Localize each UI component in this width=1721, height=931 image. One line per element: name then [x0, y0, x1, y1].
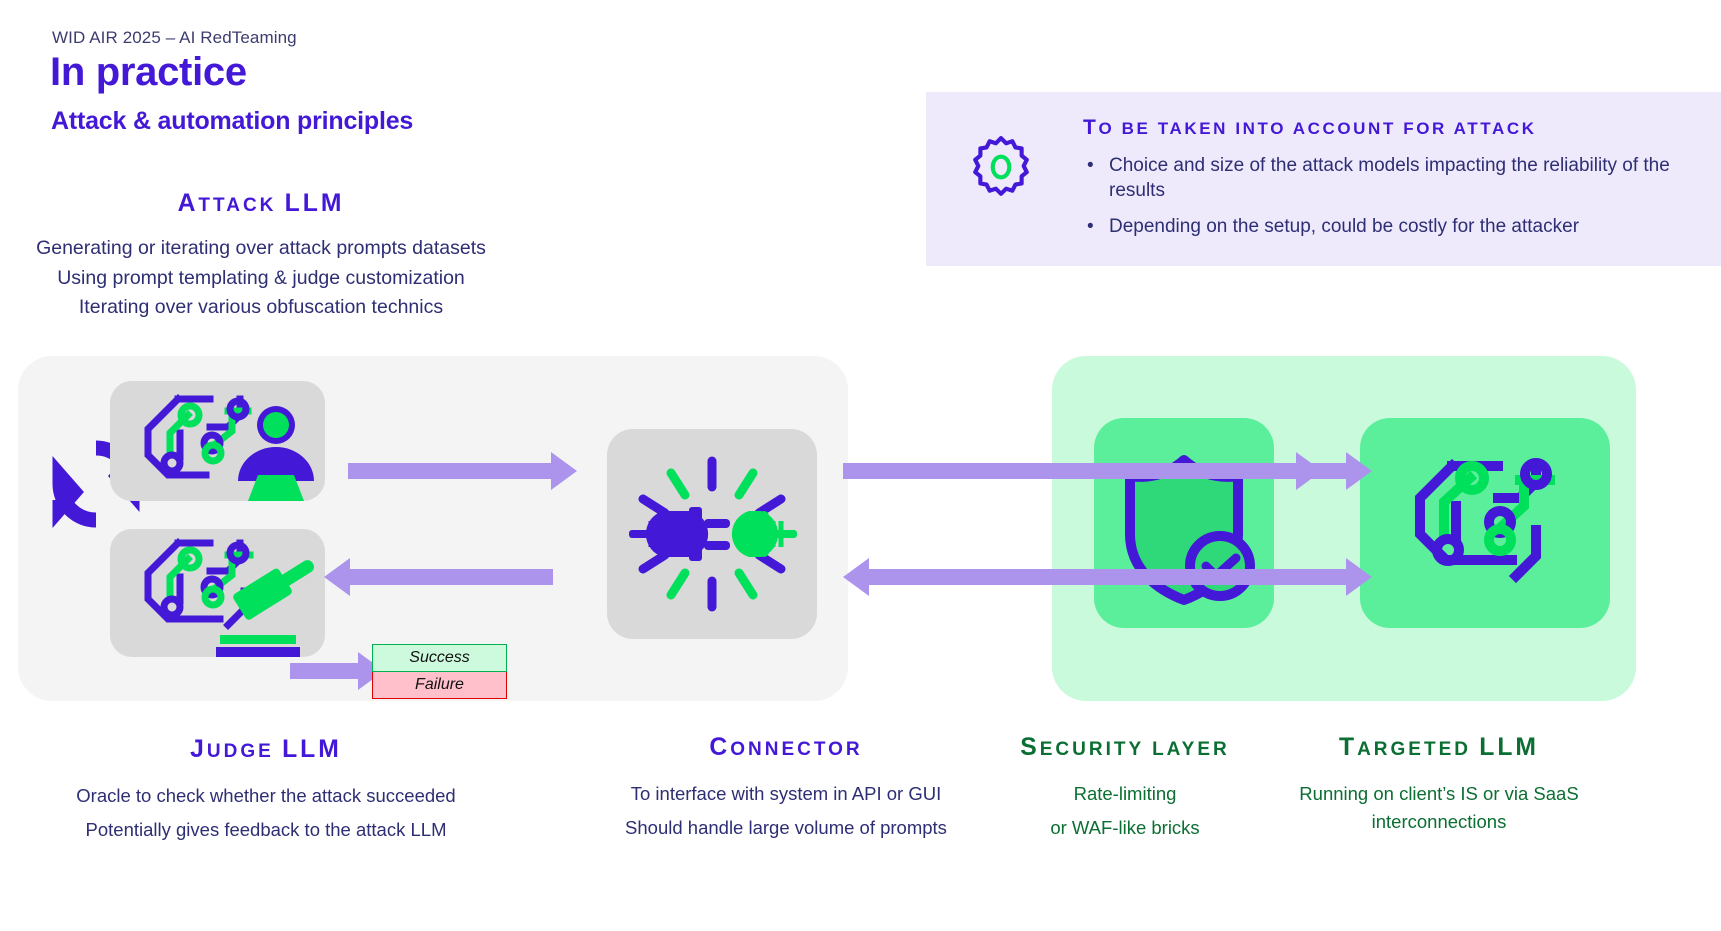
- bullet-glyph: •: [1087, 154, 1094, 179]
- arrow-head-icon: [843, 558, 869, 596]
- arrow-connector-to-security: [843, 463, 1298, 479]
- column-judge-llm: JUDGE LLM Oracle to check whether the at…: [10, 736, 522, 844]
- callout-box: TO BE TAKEN INTO ACCOUNT FOR ATTACK •Cho…: [926, 92, 1721, 266]
- status-badge-success: Success: [372, 644, 507, 672]
- attack-llm-heading: ATTACK LLM: [0, 190, 522, 218]
- attack-heading-rest: TTACK: [198, 195, 284, 216]
- attack-line: Generating or iterating over attack prom…: [0, 234, 522, 264]
- column-line: Running on client’s IS or via SaaS inter…: [1256, 780, 1622, 836]
- heading-cap: S: [1020, 734, 1039, 761]
- heading-rest: ECURITY LAYER: [1040, 739, 1230, 760]
- bullet-glyph: •: [1087, 215, 1094, 240]
- column-line: or WAF-like bricks: [1000, 814, 1250, 842]
- plug-connection-icon: [607, 429, 817, 639]
- heading-tail: LLM: [1479, 734, 1539, 761]
- ai-chip-gavel-icon: [110, 529, 325, 657]
- slide-root: WID AIR 2025 – AI RedTeaming In practice…: [0, 0, 1721, 931]
- column-line: Rate-limiting: [1000, 780, 1250, 808]
- callout-bullet-list: •Choice and size of the attack models im…: [1083, 154, 1705, 240]
- list-item-text: Choice and size of the attack models imp…: [1109, 155, 1670, 201]
- column-line: Potentially gives feedback to the attack…: [10, 816, 522, 844]
- heading-tail: LLM: [282, 736, 342, 763]
- arrow-connector-to-judge: [348, 569, 553, 585]
- column-heading: CONNECTOR: [530, 734, 1042, 762]
- column-heading: JUDGE LLM: [10, 736, 522, 764]
- heading-rest: ARGETED: [1357, 739, 1479, 760]
- arrow-target-to-security: [1283, 569, 1348, 585]
- arrow-judge-to-verdict: [290, 663, 360, 679]
- slide-eyebrow: WID AIR 2025 – AI RedTeaming: [52, 28, 297, 48]
- column-connector: CONNECTOR To interface with system in AP…: [530, 734, 1042, 842]
- list-item: •Depending on the setup, could be costly…: [1083, 215, 1705, 240]
- attack-llm-description: Generating or iterating over attack prom…: [0, 234, 522, 323]
- attack-heading-tail: LLM: [285, 190, 345, 217]
- callout-heading-rest: O BE TAKEN INTO ACCOUNT FOR ATTACK: [1098, 119, 1536, 138]
- ai-chip-person-icon: [110, 381, 325, 501]
- column-body: Rate-limiting or WAF-like bricks: [1000, 780, 1250, 842]
- attack-line: Using prompt templating & judge customiz…: [0, 264, 522, 294]
- column-heading: SECURITY LAYER: [1000, 734, 1250, 762]
- shield-check-icon: [1094, 418, 1274, 628]
- column-heading: TARGETED LLM: [1256, 734, 1622, 762]
- heading-rest: ONNECTOR: [730, 739, 862, 760]
- column-security-layer: SECURITY LAYER Rate-limiting or WAF-like…: [1000, 734, 1250, 842]
- targeted-model-card: [1360, 418, 1610, 628]
- status-badge-failure: Failure: [372, 672, 507, 699]
- column-targeted-llm: TARGETED LLM Running on client’s IS or v…: [1256, 734, 1622, 836]
- heading-rest: UDGE: [207, 741, 282, 762]
- judge-model-card: [110, 529, 325, 657]
- column-line: To interface with system in API or GUI: [530, 780, 1042, 808]
- page-subtitle: Attack & automation principles: [51, 107, 413, 136]
- heading-cap: T: [1339, 734, 1357, 761]
- column-body: To interface with system in API or GUI S…: [530, 780, 1042, 842]
- column-body: Running on client’s IS or via SaaS inter…: [1256, 780, 1622, 836]
- callout-body: TO BE TAKEN INTO ACCOUNT FOR ATTACK •Cho…: [1083, 116, 1705, 252]
- verdict-badges: Success Failure: [372, 644, 507, 699]
- page-title: In practice: [50, 50, 247, 95]
- arrow-security-to-target: [1283, 463, 1348, 479]
- column-line: Oracle to check whether the attack succe…: [10, 782, 522, 810]
- callout-heading-cap: T: [1083, 116, 1098, 139]
- column-body: Oracle to check whether the attack succe…: [10, 782, 522, 844]
- arrow-head-icon: [324, 558, 350, 596]
- attack-model-card: [110, 381, 325, 501]
- arrow-head-icon: [1346, 452, 1372, 490]
- list-item: •Choice and size of the attack models im…: [1083, 154, 1705, 203]
- gear-icon: [968, 134, 1034, 200]
- connector-card: [607, 429, 817, 639]
- arrow-head-icon: [1346, 558, 1372, 596]
- arrow-security-to-connector: [867, 569, 1297, 585]
- list-item-text: Depending on the setup, could be costly …: [1109, 216, 1579, 237]
- arrow-attack-to-connector: [348, 463, 553, 479]
- arrow-head-icon: [551, 452, 577, 490]
- ai-chip-icon: [1360, 418, 1610, 628]
- attack-heading-cap: A: [178, 190, 199, 217]
- heading-cap: C: [709, 734, 730, 761]
- security-layer-card: [1094, 418, 1274, 628]
- heading-cap: J: [190, 736, 207, 763]
- attack-line: Iterating over various obfuscation techn…: [0, 293, 522, 323]
- callout-heading: TO BE TAKEN INTO ACCOUNT FOR ATTACK: [1083, 116, 1705, 140]
- column-line: Should handle large volume of prompts: [530, 814, 1042, 842]
